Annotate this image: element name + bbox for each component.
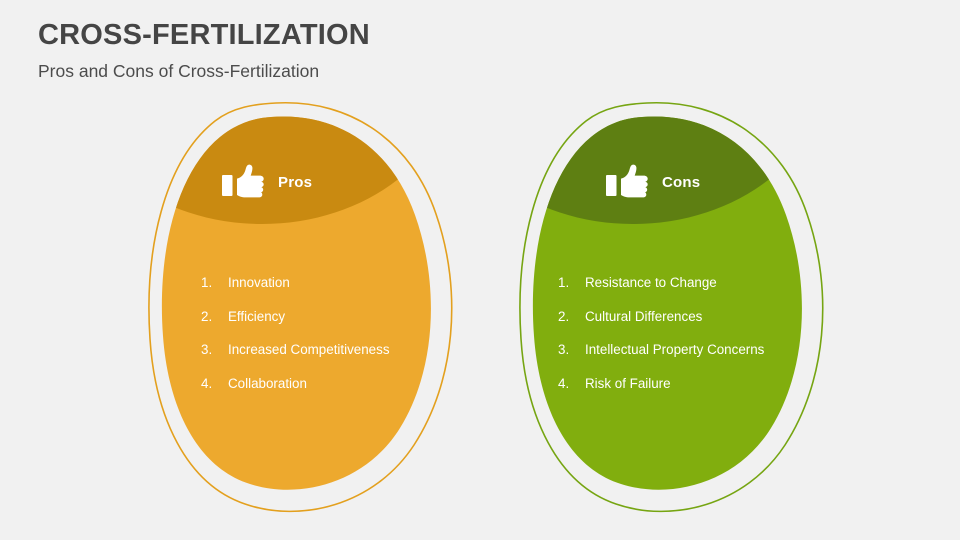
list-item: 4. Risk of Failure	[558, 374, 783, 395]
list-item-text: Efficiency	[228, 307, 285, 328]
list-item-number: 2.	[201, 307, 228, 328]
list-item-text: Collaboration	[228, 374, 307, 395]
cons-card-content: Cons 1. Resistance to Change 2. Cultural…	[530, 110, 840, 510]
slide-canvas: CROSS-FERTILIZATION Pros and Cons of Cro…	[0, 0, 960, 540]
thumbs-up-icon	[221, 162, 267, 202]
list-item: 4. Collaboration	[201, 374, 416, 395]
pros-card-label: Pros	[278, 174, 312, 191]
list-item-number: 3.	[558, 340, 585, 361]
list-item-number: 1.	[201, 273, 228, 294]
list-item: 1. Innovation	[201, 273, 416, 294]
list-item: 2. Efficiency	[201, 307, 416, 328]
list-item: 2. Cultural Differences	[558, 307, 783, 328]
list-item-text: Increased Competitiveness	[228, 340, 390, 361]
list-item-text: Resistance to Change	[585, 273, 717, 294]
list-item-number: 4.	[201, 374, 228, 395]
list-item-number: 4.	[558, 374, 585, 395]
cons-list: 1. Resistance to Change 2. Cultural Diff…	[558, 273, 783, 394]
list-item: 3. Intellectual Property Concerns	[558, 340, 783, 361]
pros-card-content: Pros 1. Innovation 2. Efficiency 3. Incr…	[176, 110, 476, 510]
pros-card-header: Pros	[221, 162, 312, 202]
list-item: 1. Resistance to Change	[558, 273, 783, 294]
list-item-number: 2.	[558, 307, 585, 328]
list-item: 3. Increased Competitiveness	[201, 340, 416, 361]
thumbs-up-icon	[605, 162, 651, 202]
cons-card-label: Cons	[662, 174, 700, 191]
cons-card-header: Cons	[605, 162, 700, 202]
list-item-text: Intellectual Property Concerns	[585, 340, 764, 361]
pros-list: 1. Innovation 2. Efficiency 3. Increased…	[201, 273, 416, 394]
list-item-text: Innovation	[228, 273, 290, 294]
list-item-number: 1.	[558, 273, 585, 294]
list-item-text: Cultural Differences	[585, 307, 702, 328]
list-item-number: 3.	[201, 340, 228, 361]
list-item-text: Risk of Failure	[585, 374, 671, 395]
